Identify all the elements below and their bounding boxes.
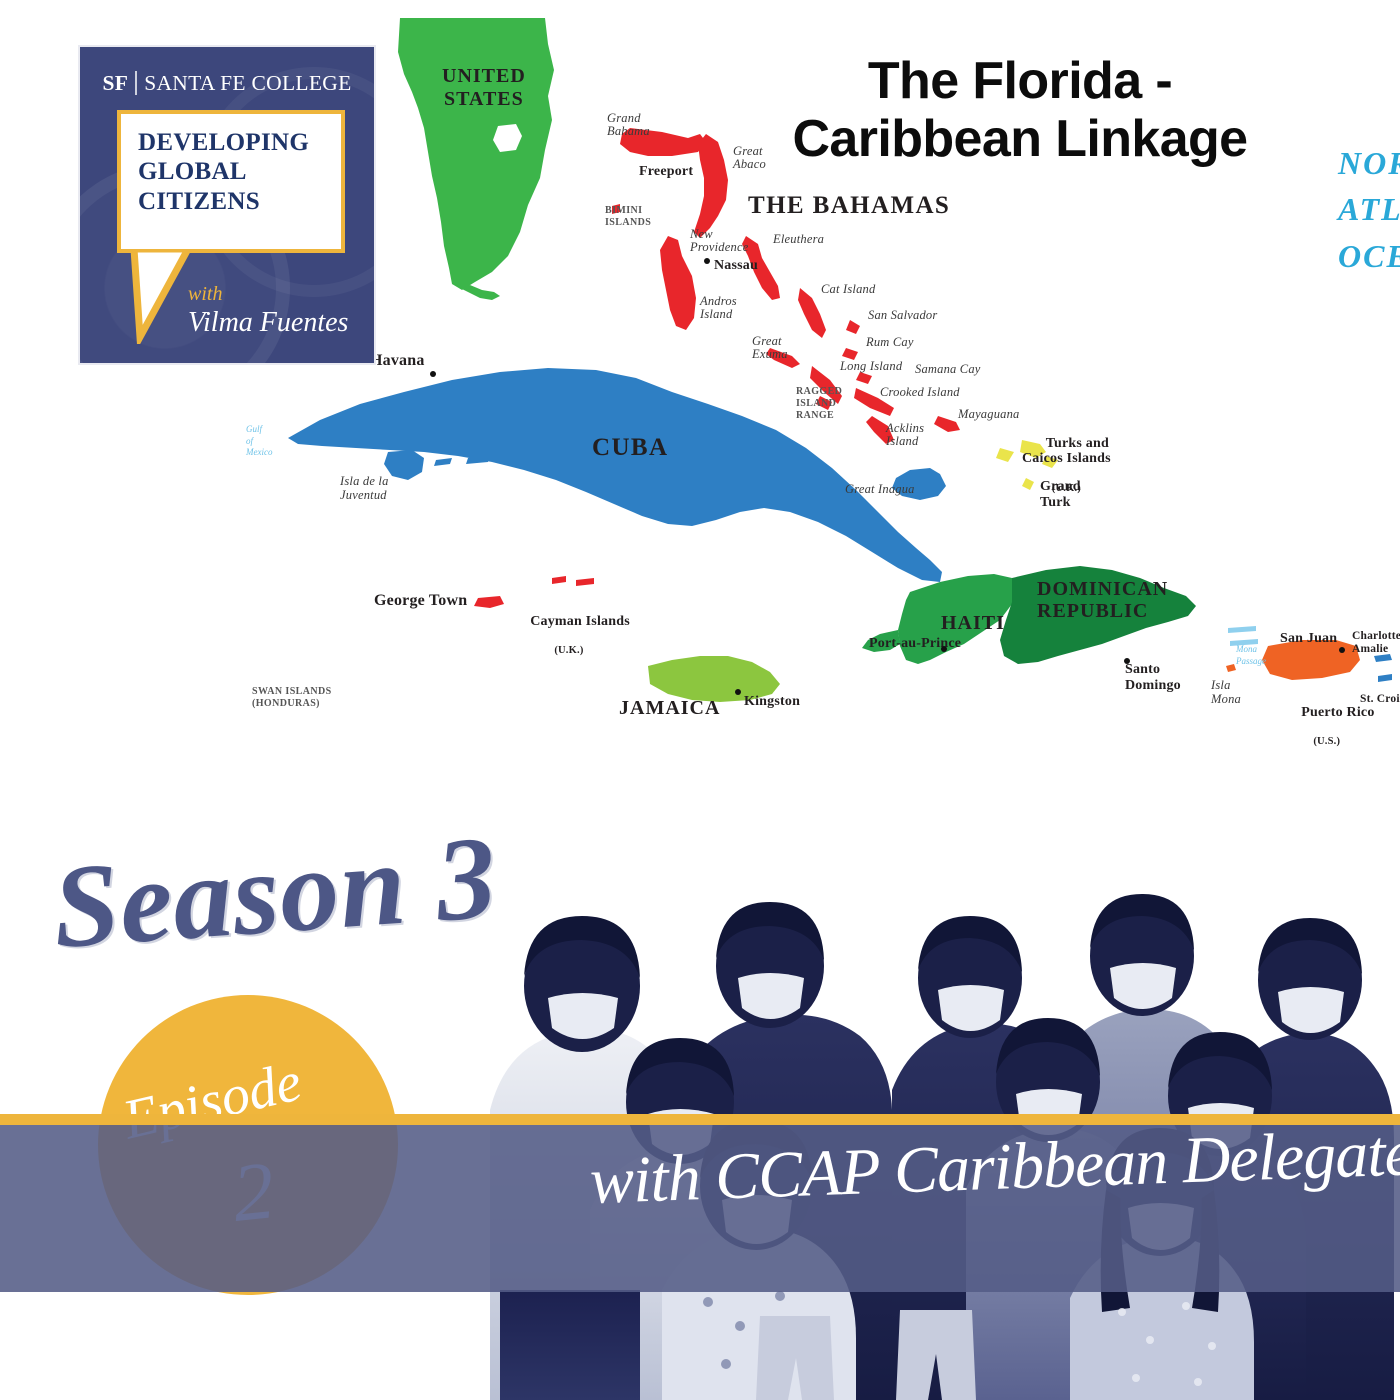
- shape-cuba-cays: [434, 456, 490, 466]
- map-label-crooked-island: Crooked Island: [880, 386, 960, 399]
- podcast-logo-badge: SFSANTA FE COLLEGE DEVELOPING GLOBAL CIT…: [78, 45, 376, 365]
- map-label-grand-turk: Grand Turk: [1040, 479, 1081, 510]
- map-label-freeport: Freeport: [639, 165, 693, 180]
- shape-mona-passage: [1228, 626, 1258, 646]
- speech-bubble: DEVELOPING GLOBAL CITIZENS: [117, 110, 345, 253]
- map-label-isla-juventud: Isla de la Juventud: [340, 474, 389, 503]
- host-name: Vilma Fuentes: [188, 307, 348, 339]
- map-label-haiti: HAITI: [941, 613, 1005, 634]
- city-dot-havana: [430, 371, 436, 377]
- map-label-san-juan: San Juan: [1280, 632, 1337, 647]
- episode-title: The Florida - Caribbean Linkage: [700, 52, 1340, 168]
- shape-isla-juventud: [384, 450, 424, 480]
- map-label-george-town: George Town: [374, 593, 467, 610]
- map-label-samana-cay: Samana Cay: [915, 363, 981, 376]
- shape-virgin-islands: [1374, 654, 1392, 682]
- map-label-ragged-island-range: RAGGED ISLAND RANGE: [796, 386, 842, 422]
- map-label-cayman-uk: (U.K.): [508, 645, 630, 657]
- map-label-cat-island: Cat Island: [821, 283, 875, 296]
- map-label-great-exuma: Great Exuma: [752, 335, 788, 361]
- map-label-gulf-of-mexico: Gulf of Mexico: [246, 424, 272, 459]
- map-label-charlotte-amalie: Charlotte Amalie: [1352, 630, 1400, 656]
- map-label-grand-bahama: Grand Bahama: [607, 112, 650, 138]
- map-label-turks-caicos-name: Turks and Caicos Islands: [1022, 436, 1111, 467]
- shape-florida-keys: [460, 285, 500, 300]
- city-dot-san-juan: [1339, 647, 1345, 653]
- map-label-san-salvador: San Salvador: [868, 309, 937, 322]
- map-label-long-island: Long Island: [840, 360, 902, 373]
- city-dot-port-au-prince: [941, 646, 947, 652]
- map-label-rum-cay: Rum Cay: [866, 336, 914, 349]
- map-label-cayman-islands: Cayman Islands (U.K.): [508, 598, 630, 688]
- city-dot-santo-domingo: [1124, 658, 1130, 664]
- map-label-nassau: Nassau: [714, 259, 758, 274]
- podcast-cover-art: UNITED STATES THE BAHAMAS CUBA JAMAICA H…: [0, 0, 1400, 1400]
- shape-united-states: [398, 18, 554, 290]
- map-label-swan-islands: SWAN ISLANDS (HONDURAS): [252, 686, 332, 710]
- map-label-bimini-islands: BIMINI ISLANDS: [605, 205, 651, 229]
- shape-isla-mona: [1226, 664, 1236, 672]
- group-photo-figures: [430, 690, 1400, 1400]
- city-dot-nassau: [704, 258, 710, 264]
- map-label-the-bahamas: THE BAHAMAS: [748, 193, 950, 219]
- santa-fe-college-wordmark: SFSANTA FE COLLEGE: [80, 71, 374, 96]
- map-label-eleuthera: Eleuthera: [773, 233, 824, 246]
- map-label-great-inagua: Great Inagua: [845, 483, 915, 496]
- college-name: SANTA FE COLLEGE: [144, 71, 351, 95]
- map-label-acklins-island: Acklins Island: [886, 422, 924, 448]
- map-label-mona-passage: Mona Passage: [1236, 644, 1266, 667]
- host-credit: with Vilma Fuentes: [188, 283, 348, 339]
- map-label-cuba: CUBA: [592, 435, 668, 461]
- map-label-cayman-name: Cayman Islands: [530, 614, 630, 629]
- map-label-havana: Havana: [370, 353, 425, 370]
- map-label-new-providence: New Providence: [690, 228, 748, 254]
- delegates-group-photo: [430, 690, 1400, 1400]
- map-label-port-au-prince: Port-au-Prince: [869, 637, 961, 652]
- with-label: with: [188, 283, 348, 306]
- map-label-united-states: UNITED STATES: [442, 65, 526, 111]
- map-label-andros-island: Andros Island: [700, 295, 737, 321]
- show-title: DEVELOPING GLOBAL CITIZENS: [138, 128, 309, 216]
- map-label-dominican-republic: DOMINICAN REPUBLIC: [1037, 578, 1168, 623]
- map-label-mayaguana: Mayaguana: [958, 408, 1020, 421]
- map-label-north-atlantic-ocean: NORTH ATLANTIC OCEAN: [1338, 140, 1400, 279]
- sf-monogram: SF: [102, 71, 137, 95]
